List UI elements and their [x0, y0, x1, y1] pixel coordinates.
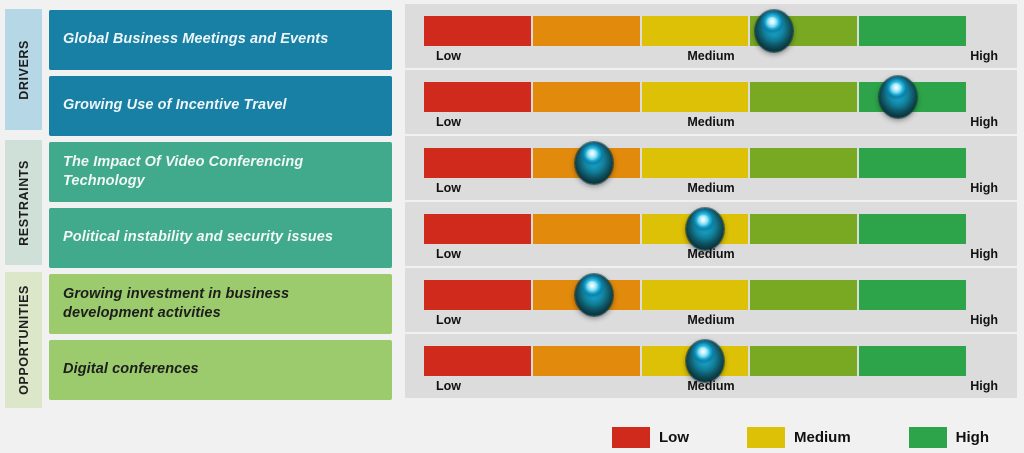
- gauge-panel: Low Medium High: [405, 334, 1017, 398]
- segment-low: [424, 148, 531, 178]
- segment-high: [859, 346, 966, 376]
- scale-labels: Low Medium High: [424, 49, 998, 67]
- category-tab-label: RESTRAINTS: [17, 160, 31, 246]
- gauge-track: [424, 16, 966, 46]
- scale-label-high: High: [970, 181, 998, 195]
- factor-card[interactable]: Political instability and security issue…: [49, 208, 392, 268]
- category-tab-opportunities: OPPORTUNITIES: [5, 272, 42, 408]
- factor-card[interactable]: Growing investment in business developme…: [49, 274, 392, 334]
- factor-card[interactable]: Global Business Meetings and Events: [49, 10, 392, 70]
- scale-label-medium: Medium: [687, 247, 734, 261]
- scale-label-high: High: [970, 115, 998, 129]
- legend: Low Medium High: [612, 427, 989, 448]
- scale-label-high: High: [970, 313, 998, 327]
- scale-labels: Low Medium High: [424, 379, 998, 397]
- gauge-track: [424, 280, 966, 310]
- scale-label-high: High: [970, 247, 998, 261]
- segment-medium-high: [750, 214, 857, 244]
- segment-low: [424, 16, 531, 46]
- segment-low: [424, 214, 531, 244]
- gauge-panel: Low Medium High: [405, 136, 1017, 200]
- scale-label-medium: Medium: [687, 49, 734, 63]
- factor-card[interactable]: Digital conferences: [49, 340, 392, 400]
- factor-label: Political instability and security issue…: [63, 228, 333, 247]
- segment-medium: [642, 148, 749, 178]
- legend-item-medium: Medium: [747, 427, 851, 448]
- scale-label-low: Low: [436, 181, 461, 195]
- scale-label-low: Low: [436, 313, 461, 327]
- scale-label-high: High: [970, 379, 998, 393]
- legend-label: Medium: [794, 429, 851, 446]
- scale-labels: Low Medium High: [424, 247, 998, 265]
- impact-analysis-chart: DRIVERS RESTRAINTS OPPORTUNITIES Global …: [0, 0, 1024, 453]
- segment-high: [859, 280, 966, 310]
- scale-labels: Low Medium High: [424, 313, 998, 331]
- factor-card[interactable]: Growing Use of Incentive Travel: [49, 76, 392, 136]
- scale-label-high: High: [970, 49, 998, 63]
- legend-item-high: High: [909, 427, 989, 448]
- scale-label-medium: Medium: [687, 313, 734, 327]
- category-tab-restraints: RESTRAINTS: [5, 140, 42, 265]
- segment-low-medium: [533, 346, 640, 376]
- legend-swatch-low-icon: [612, 427, 650, 448]
- segment-low-medium: [533, 82, 640, 112]
- segment-medium: [642, 16, 749, 46]
- scale-label-low: Low: [436, 49, 461, 63]
- gauge-panel: Low Medium High: [405, 268, 1017, 332]
- segment-medium: [642, 82, 749, 112]
- segment-high: [859, 214, 966, 244]
- legend-item-low: Low: [612, 427, 689, 448]
- scale-labels: Low Medium High: [424, 181, 998, 199]
- impact-marker-orb[interactable]: [879, 76, 917, 118]
- segment-low-medium: [533, 214, 640, 244]
- segment-low: [424, 82, 531, 112]
- segment-low-medium: [533, 16, 640, 46]
- category-tab-label: DRIVERS: [17, 40, 31, 100]
- factor-label: Growing Use of Incentive Travel: [63, 96, 287, 115]
- scale-labels: Low Medium High: [424, 115, 998, 133]
- segment-high: [859, 16, 966, 46]
- segment-medium-high: [750, 148, 857, 178]
- scale-label-low: Low: [436, 379, 461, 393]
- impact-marker-orb[interactable]: [755, 10, 793, 52]
- segment-high: [859, 148, 966, 178]
- gauge-panel: Low Medium High: [405, 70, 1017, 134]
- scale-label-medium: Medium: [687, 115, 734, 129]
- category-tab-drivers: DRIVERS: [5, 9, 42, 130]
- segment-medium-high: [750, 346, 857, 376]
- factor-label: Growing investment in business developme…: [63, 285, 313, 323]
- scale-label-low: Low: [436, 115, 461, 129]
- factor-label: The Impact Of Video Conferencing Technol…: [63, 153, 333, 191]
- legend-swatch-medium-icon: [747, 427, 785, 448]
- segment-medium-high: [750, 280, 857, 310]
- scale-label-medium: Medium: [687, 181, 734, 195]
- legend-swatch-high-icon: [909, 427, 947, 448]
- scale-label-low: Low: [436, 247, 461, 261]
- category-tab-label: OPPORTUNITIES: [17, 285, 31, 395]
- impact-marker-orb[interactable]: [575, 142, 613, 184]
- gauge-track: [424, 148, 966, 178]
- factor-label: Digital conferences: [63, 360, 199, 379]
- impact-marker-orb[interactable]: [686, 208, 724, 250]
- factor-label: Global Business Meetings and Events: [63, 30, 328, 49]
- scale-label-medium: Medium: [687, 379, 734, 393]
- segment-low: [424, 346, 531, 376]
- segment-low: [424, 280, 531, 310]
- legend-label: High: [956, 429, 989, 446]
- impact-marker-orb[interactable]: [575, 274, 613, 316]
- legend-label: Low: [659, 429, 689, 446]
- gauge-panel: Low Medium High: [405, 4, 1017, 68]
- segment-medium-high: [750, 82, 857, 112]
- factor-card[interactable]: The Impact Of Video Conferencing Technol…: [49, 142, 392, 202]
- segment-medium: [642, 280, 749, 310]
- gauge-panel: Low Medium High: [405, 202, 1017, 266]
- impact-marker-orb[interactable]: [686, 340, 724, 382]
